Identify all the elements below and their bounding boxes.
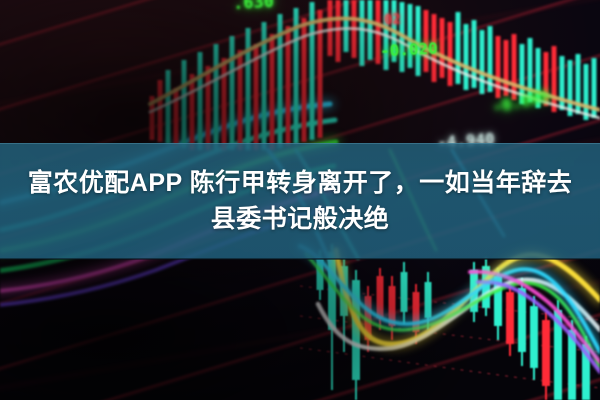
headline-band bbox=[0, 143, 600, 259]
headline-band-bottom-edge bbox=[0, 258, 600, 260]
headline-band-top-edge bbox=[0, 143, 600, 144]
banner-image: .630 02 -0.020 -0.006 -4.940 富农优配APP 陈行甲… bbox=[0, 0, 600, 400]
